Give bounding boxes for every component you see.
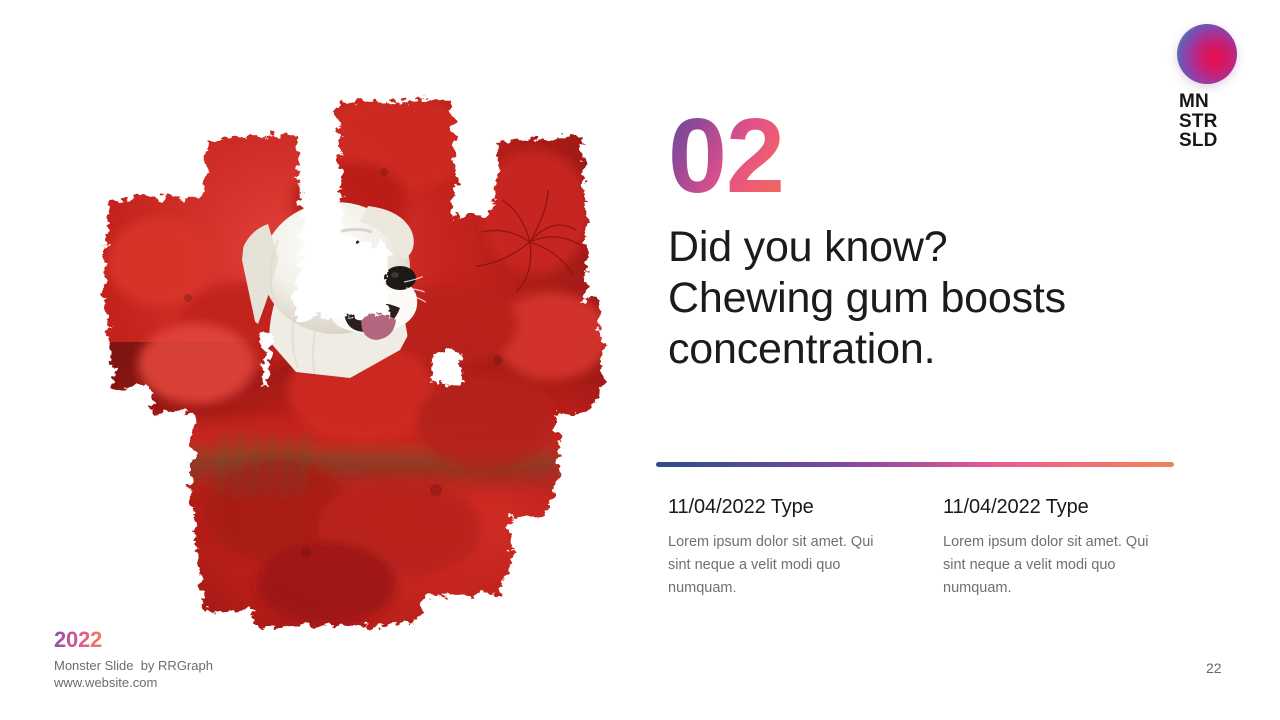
headline-line-1: Did you know?	[668, 222, 1196, 273]
slide-canvas: MN STR SLD	[0, 0, 1280, 720]
footer-credit-block: Monster Slide by RRGraph www.website.com	[54, 658, 213, 691]
fact-column-2: 11/04/2022 Type Lorem ipsum dolor sit am…	[943, 496, 1168, 600]
slide-footer: 2022 Monster Slide by RRGraph www.websit…	[54, 628, 213, 691]
gradient-sphere-icon	[1177, 24, 1237, 84]
headline-line-2: Chewing gum boosts	[668, 273, 1196, 324]
footer-year: 2022	[54, 628, 102, 652]
headline-line-3: concentration.	[668, 324, 1196, 375]
collage-masked-photo	[100, 92, 620, 632]
fact-title: 11/04/2022 Type	[668, 496, 893, 519]
fact-title: 11/04/2022 Type	[943, 496, 1168, 519]
collage-svg	[100, 92, 620, 632]
page-number: 22	[1206, 660, 1222, 676]
section-number: 02	[668, 104, 784, 208]
fact-body: Lorem ipsum dolor sit amet. Qui sint neq…	[668, 531, 893, 600]
content-column: 02 Did you know? Chewing gum boosts conc…	[656, 104, 1196, 375]
headline: Did you know? Chewing gum boosts concent…	[668, 222, 1196, 375]
fact-column-1: 11/04/2022 Type Lorem ipsum dolor sit am…	[668, 496, 893, 600]
fact-columns: 11/04/2022 Type Lorem ipsum dolor sit am…	[668, 496, 1188, 600]
fact-body: Lorem ipsum dolor sit amet. Qui sint neq…	[943, 531, 1168, 600]
footer-credit: Monster Slide by RRGraph	[54, 658, 213, 675]
footer-website[interactable]: www.website.com	[54, 675, 213, 692]
gradient-divider	[656, 462, 1174, 467]
collage-image	[100, 92, 620, 632]
